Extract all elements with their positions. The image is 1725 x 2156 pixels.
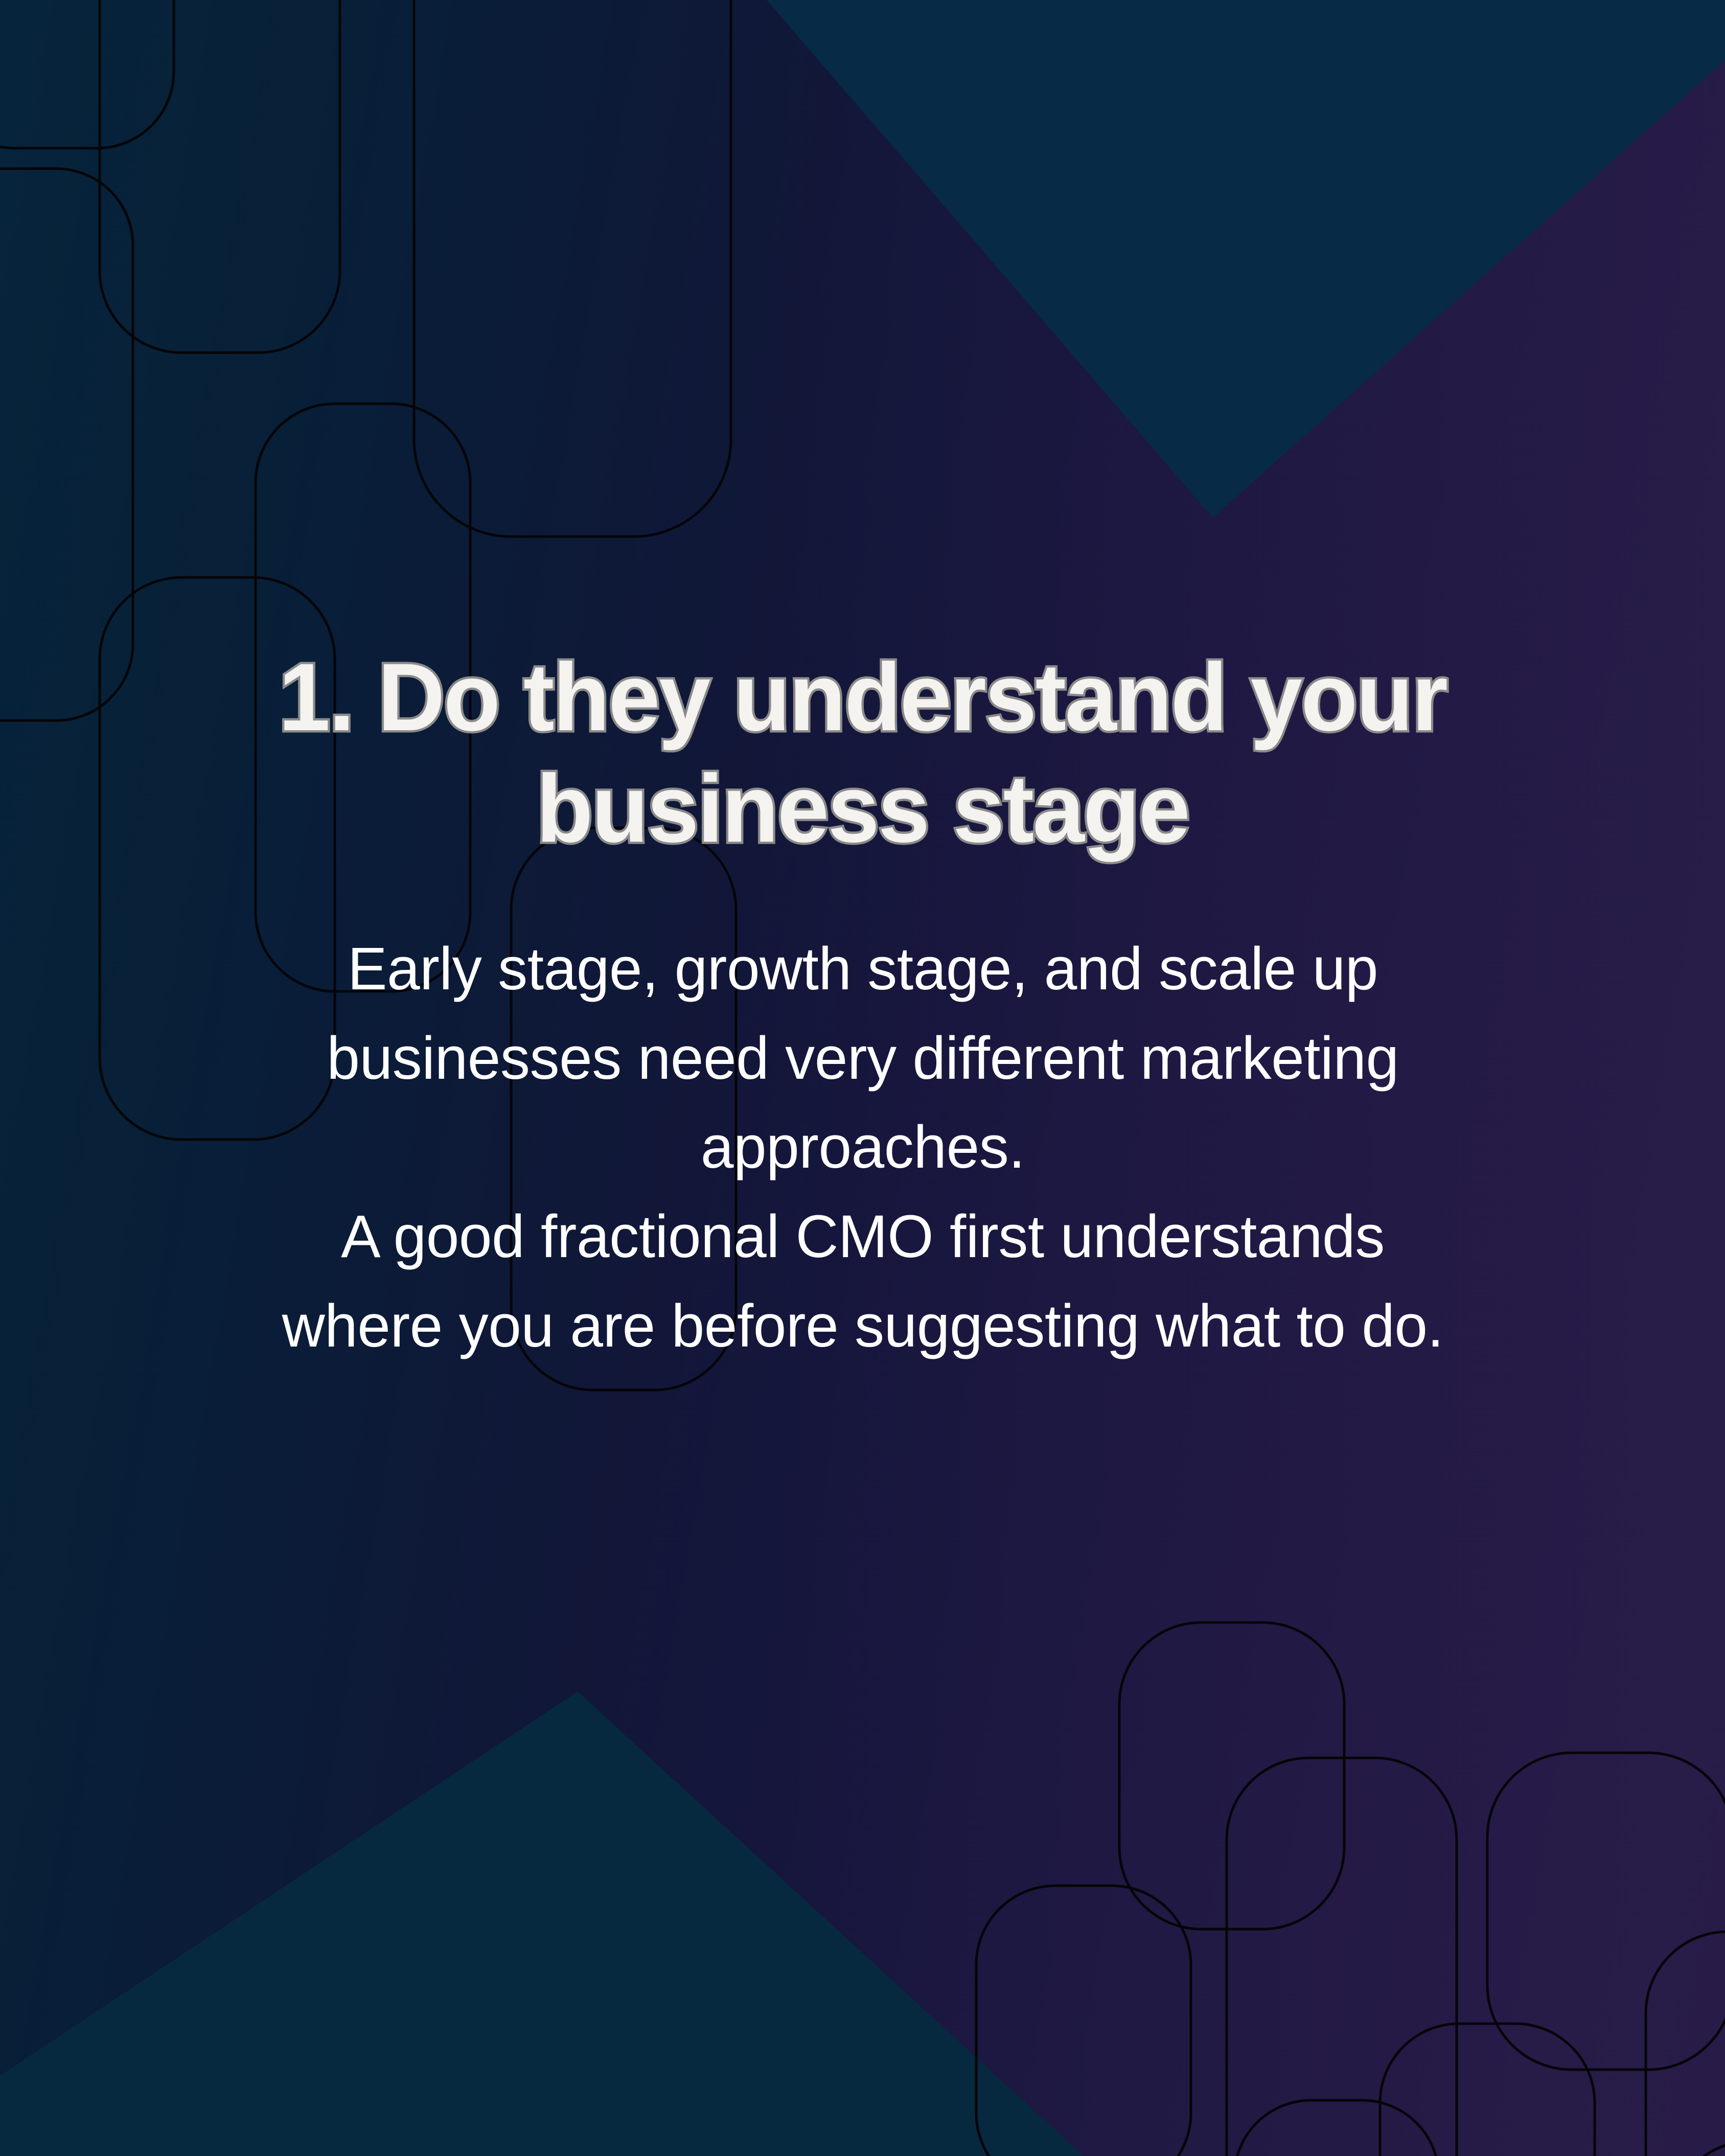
slide-canvas: 1. Do they understand your business stag… [0, 0, 1725, 2156]
body-paragraph-1: Early stage, growth stage, and scale up … [87, 924, 1638, 1192]
body-line: where you are before suggesting what to … [87, 1282, 1638, 1371]
body-line: businesses need very different marketing [87, 1014, 1638, 1103]
body-copy: Early stage, growth stage, and scale up … [87, 924, 1638, 1371]
body-line: A good fractional CMO first understands [87, 1192, 1638, 1282]
body-line: approaches. [87, 1103, 1638, 1192]
body-line: Early stage, growth stage, and scale up [87, 924, 1638, 1014]
body-paragraph-2: A good fractional CMO first understands … [87, 1192, 1638, 1371]
slide-content: 1. Do they understand your business stag… [0, 0, 1725, 2156]
page-title: 1. Do they understand your business stag… [95, 641, 1629, 864]
